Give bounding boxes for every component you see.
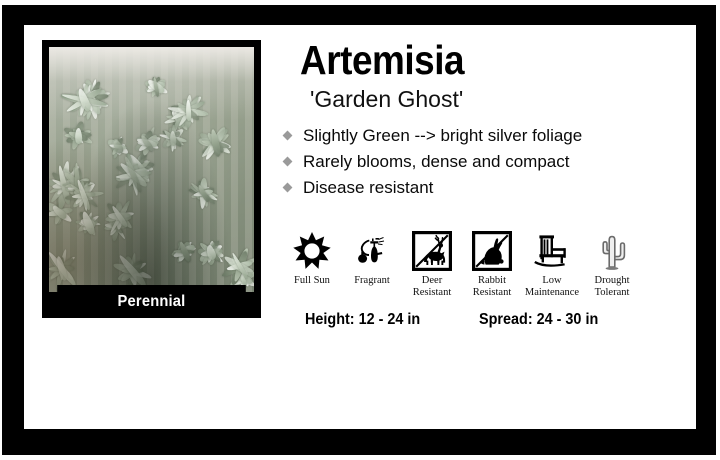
icon-cell-rocking-chair: LowMaintenance bbox=[522, 230, 582, 299]
rocking-chair-icon bbox=[522, 230, 582, 272]
feature-text: Slightly Green --> bright silver foliage bbox=[303, 126, 582, 145]
icon-label-line: Resistant bbox=[402, 287, 462, 299]
life-cycle-caption: Perennial bbox=[57, 285, 246, 318]
perfume-bottle-icon bbox=[342, 230, 402, 272]
plant-photo-panel: Perennial bbox=[42, 40, 261, 318]
plant-info-column: Artemisia 'Garden Ghost' Slightly Green … bbox=[282, 37, 678, 201]
icon-label-line: Deer bbox=[402, 275, 462, 287]
cactus-icon bbox=[582, 230, 642, 272]
icon-label: DroughtTolerant bbox=[582, 275, 642, 299]
icon-cell-deer-crossed: DeerResistant bbox=[402, 230, 462, 299]
page-title: Artemisia bbox=[300, 37, 640, 83]
icon-cell-cactus: DroughtTolerant bbox=[582, 230, 642, 299]
plant-photo bbox=[49, 47, 254, 292]
cultivar-name: 'Garden Ghost' bbox=[310, 85, 678, 113]
sun-icon bbox=[282, 230, 342, 272]
tag-outer-border: Perennial Artemisia 'Garden Ghost' Sligh… bbox=[2, 5, 716, 455]
feature-item: Disease resistant bbox=[282, 175, 678, 200]
icon-label-line: Low bbox=[522, 275, 582, 287]
deer-crossed-icon bbox=[402, 230, 462, 272]
diamond-bullet-icon bbox=[283, 183, 293, 193]
icon-label-line: Resistant bbox=[462, 287, 522, 299]
icon-label: Fragrant bbox=[342, 275, 402, 287]
icon-label: Full Sun bbox=[282, 275, 342, 287]
attribute-icon-row: Full SunFragrantDeerResistantRabbitResis… bbox=[282, 230, 682, 299]
rabbit-crossed-icon bbox=[462, 230, 522, 272]
icon-label-line: Rabbit bbox=[462, 275, 522, 287]
icon-cell-sun: Full Sun bbox=[282, 230, 342, 287]
icon-label-line: Maintenance bbox=[522, 287, 582, 299]
diamond-bullet-icon bbox=[283, 157, 293, 167]
feature-list: Slightly Green --> bright silver foliage… bbox=[282, 123, 678, 200]
icon-cell-rabbit-crossed: RabbitResistant bbox=[462, 230, 522, 299]
feature-text: Rarely blooms, dense and compact bbox=[303, 152, 569, 171]
icon-label-line: Drought bbox=[582, 275, 642, 287]
spread-stat: Spread: 24 - 30 in bbox=[479, 311, 598, 329]
icon-label: RabbitResistant bbox=[462, 275, 522, 299]
diamond-bullet-icon bbox=[283, 131, 293, 141]
icon-cell-perfume-bottle: Fragrant bbox=[342, 230, 402, 287]
icon-label-line: Tolerant bbox=[582, 287, 642, 299]
feature-text: Disease resistant bbox=[303, 178, 433, 197]
feature-item: Rarely blooms, dense and compact bbox=[282, 149, 678, 174]
tag-card: Perennial Artemisia 'Garden Ghost' Sligh… bbox=[24, 25, 696, 429]
icon-label: DeerResistant bbox=[402, 275, 462, 299]
height-stat: Height: 12 - 24 in bbox=[305, 311, 420, 329]
feature-item: Slightly Green --> bright silver foliage bbox=[282, 123, 678, 148]
plant-tag-root: Perennial Artemisia 'Garden Ghost' Sligh… bbox=[0, 0, 720, 460]
icon-label: LowMaintenance bbox=[522, 275, 582, 299]
